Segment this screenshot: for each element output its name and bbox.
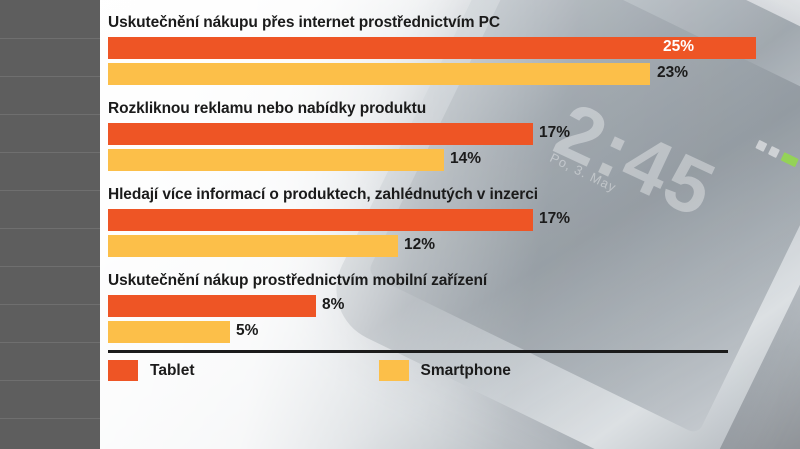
chart-group: Hledají více informací o produktech, zah… (108, 186, 792, 261)
bar-value-label: 8% (322, 296, 344, 314)
legend-divider (108, 350, 728, 353)
side-panel-rule (0, 266, 100, 267)
bar-value-label: 12% (404, 236, 435, 254)
bar-row: 17% (108, 209, 792, 231)
bar-smartphone (108, 149, 444, 171)
bar-row: 5% (108, 321, 792, 343)
legend-label-smartphone: Smartphone (421, 362, 511, 380)
bar-row: 8% (108, 295, 792, 317)
left-side-panel (0, 0, 100, 449)
chart-screenshot: 2:45 Po, 3. May Uskutečnění nákupu přes … (0, 0, 800, 449)
side-panel-rule (0, 228, 100, 229)
legend-item-tablet: Tablet (108, 360, 195, 381)
side-panel-rule (0, 342, 100, 343)
side-panel-rule (0, 380, 100, 381)
side-panel-rule (0, 38, 100, 39)
bar-value-label: 17% (539, 210, 570, 228)
bar-value-label: 25% (663, 38, 694, 56)
bar-smartphone (108, 321, 230, 343)
bar-row: 23% (108, 63, 792, 85)
bar-tablet (108, 209, 533, 231)
legend-swatch-tablet (108, 360, 138, 381)
legend-label-tablet: Tablet (150, 362, 195, 380)
bar-value-label: 17% (539, 124, 570, 142)
side-panel-rule (0, 190, 100, 191)
side-panel-rule (0, 304, 100, 305)
side-panel-rule (0, 114, 100, 115)
bar-value-label: 14% (450, 150, 481, 168)
chart-group: Rozkliknou reklamu nebo nabídky produktu… (108, 100, 792, 175)
group-title: Uskutečnění nákup prostřednictvím mobiln… (108, 272, 792, 290)
group-title: Rozkliknou reklamu nebo nabídky produktu (108, 100, 792, 118)
bar-smartphone (108, 235, 398, 257)
chart-group: Uskutečnění nákup prostřednictvím mobiln… (108, 272, 792, 347)
bar-row: 14% (108, 149, 792, 171)
side-panel-rule (0, 76, 100, 77)
bar-value-label: 5% (236, 322, 258, 340)
bar-value-label: 23% (657, 64, 688, 82)
bar-tablet (108, 123, 533, 145)
group-title: Uskutečnění nákupu přes internet prostře… (108, 14, 792, 32)
side-panel-rule (0, 418, 100, 419)
group-title: Hledají více informací o produktech, zah… (108, 186, 792, 204)
bar-tablet (108, 295, 316, 317)
chart-legend: Tablet Smartphone (108, 360, 511, 381)
bar-tablet (108, 37, 756, 59)
bar-row: 12% (108, 235, 792, 257)
bar-row: 17% (108, 123, 792, 145)
bar-chart: Uskutečnění nákupu přes internet prostře… (100, 0, 800, 449)
side-panel-rule (0, 152, 100, 153)
legend-item-smartphone: Smartphone (379, 360, 511, 381)
chart-canvas: 2:45 Po, 3. May Uskutečnění nákupu přes … (100, 0, 800, 449)
chart-group: Uskutečnění nákupu přes internet prostře… (108, 14, 792, 89)
bar-row: 25% (108, 37, 792, 59)
legend-swatch-smartphone (379, 360, 409, 381)
bar-smartphone (108, 63, 650, 85)
